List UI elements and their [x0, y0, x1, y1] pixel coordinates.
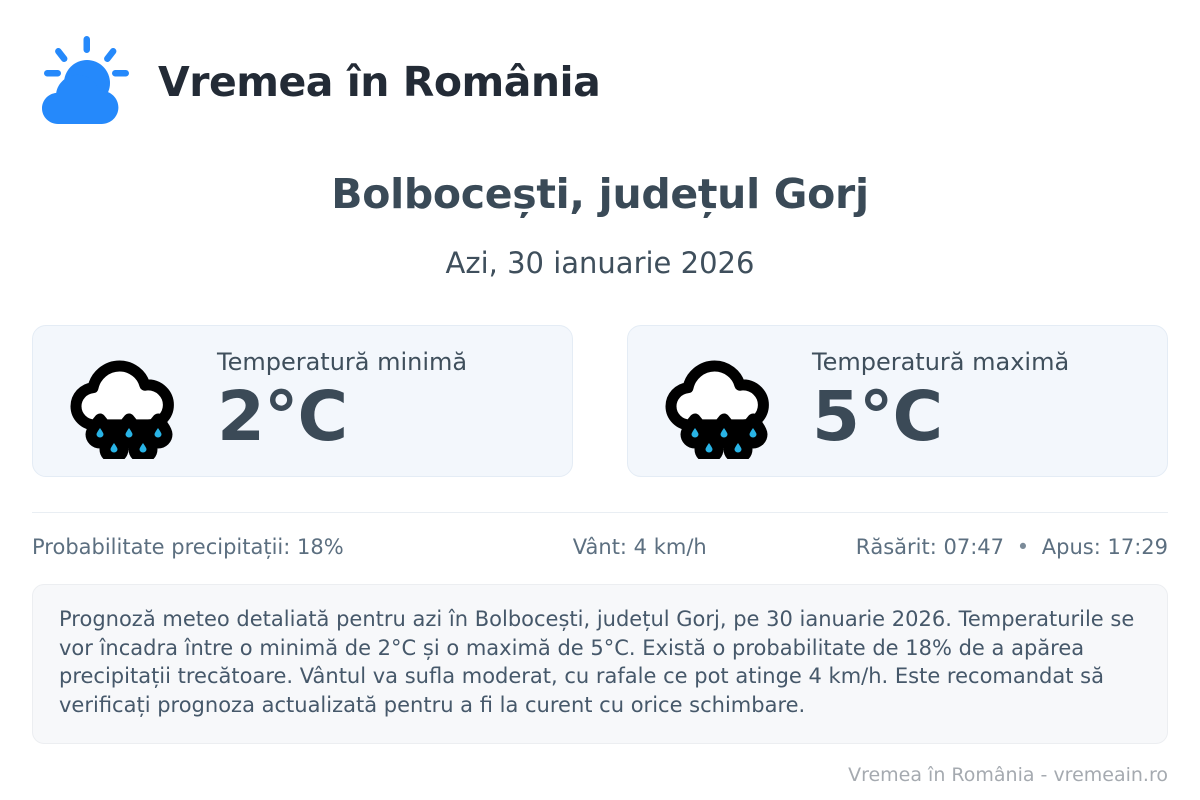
forecast-description: Prognoză meteo detaliată pentru azi în B… [32, 584, 1168, 744]
card-min-value: 2°C [217, 379, 467, 455]
card-min-body: Temperatură minimă 2°C [217, 347, 467, 455]
card-min-label: Temperatură minimă [217, 347, 467, 377]
page-title: Bolbocești, județul Gorj [32, 170, 1168, 218]
rain-cloud-icon [662, 343, 786, 459]
card-temperature-min: Temperatură minimă 2°C [32, 325, 573, 477]
rain-cloud-icon [67, 343, 191, 459]
weather-page: Vremea în România Bolbocești, județul Go… [0, 0, 1200, 800]
stats-row: Probabilitate precipitații: 18% Vânt: 4 … [32, 533, 1168, 561]
site-brand[interactable]: Vremea în România [32, 0, 1168, 118]
stat-sunset: Apus: 17:29 [1042, 535, 1168, 559]
page-subtitle: Azi, 30 ianuarie 2026 [32, 245, 1168, 281]
stat-separator: • [1011, 535, 1035, 559]
card-max-label: Temperatură maximă [812, 347, 1069, 377]
temperature-cards: Temperatură minimă 2°C Temp [32, 325, 1168, 477]
stat-sun-times: Răsărit: 07:47 • Apus: 17:29 [793, 533, 1168, 561]
stat-sunrise: Răsărit: 07:47 [856, 535, 1004, 559]
stat-wind: Vânt: 4 km/h [486, 533, 793, 561]
stat-precipitation: Probabilitate precipitații: 18% [32, 533, 486, 561]
brand-name: Vremea în România [158, 59, 600, 105]
stats-divider [32, 512, 1168, 513]
footer-credit: Vremea în România - vremeain.ro [848, 762, 1168, 788]
card-temperature-max: Temperatură maximă 5°C [627, 325, 1168, 477]
card-max-body: Temperatură maximă 5°C [812, 347, 1069, 455]
sun-behind-cloud-icon [32, 32, 136, 132]
card-max-value: 5°C [812, 379, 1069, 455]
